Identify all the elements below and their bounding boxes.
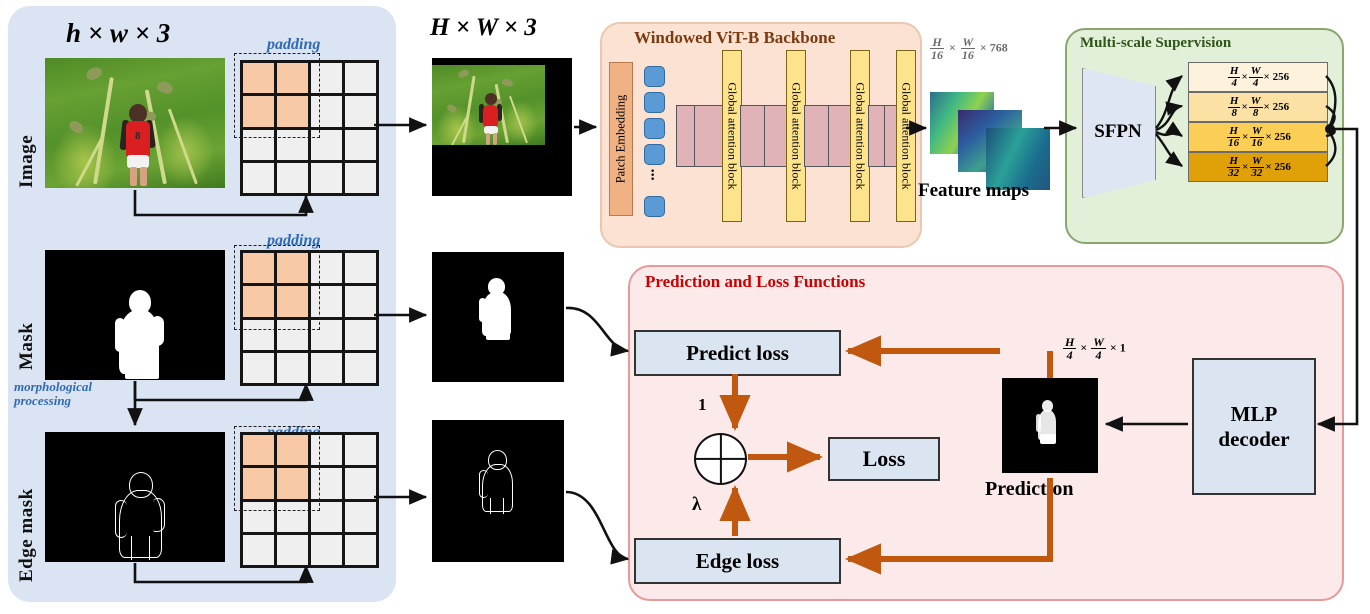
ms3-w-den: 32 (1249, 168, 1264, 179)
prediction-caption: Prediction (985, 478, 1074, 501)
padding-label-image: padding (267, 36, 320, 54)
mlp-decoder-line1: MLP (1231, 402, 1278, 426)
transformer-block (740, 105, 766, 167)
input-image-thumbnail: 8 (45, 58, 225, 188)
global-attention-block: Global attention block (722, 50, 742, 222)
edge-loss-weight-label: λ (692, 494, 701, 516)
global-attention-block-label: Global attention block (789, 82, 804, 189)
ms1-h-num: H (1228, 96, 1241, 108)
fm-h-den: 16 (929, 49, 945, 61)
morph-line1: morphological (14, 380, 92, 394)
padding-window-mask (234, 245, 320, 330)
pred-channels: 1 (1120, 340, 1126, 354)
input-dim-caption: h × w × 3 (66, 18, 170, 49)
mask-image-thumbnail (45, 250, 225, 380)
feature-maps-caption: Feature maps (918, 180, 1029, 202)
token-square (644, 118, 665, 139)
global-attention-block-label: Global attention block (853, 82, 868, 189)
global-attention-block: Global attention block (896, 50, 916, 222)
token-square (644, 66, 665, 87)
multiscale-level-bar: H32 ×W32 × 256 (1188, 152, 1328, 182)
edge-mask-image-thumbnail (45, 432, 225, 562)
pred-h-den: 4 (1065, 349, 1075, 361)
global-attention-block-label: Global attention block (725, 82, 740, 189)
transformer-block (804, 105, 830, 167)
prediction-dim-caption: H4 × W4 × 1 (1062, 336, 1126, 361)
ms2-w-den: 16 (1249, 138, 1264, 149)
ms3-h-den: 32 (1226, 168, 1241, 179)
mlp-decoder-line2: decoder (1218, 427, 1289, 451)
predict-loss-box: Predict loss (634, 330, 841, 376)
patch-embedding-label: Patch Embedding (614, 95, 629, 184)
patch-embedding-block: Patch Embedding (609, 62, 633, 216)
sfpn-label: SFPN (1082, 68, 1154, 196)
feature-map-dim-caption: H16 × W16 × 768 (928, 36, 1008, 61)
token-square (644, 144, 665, 165)
row-label-image: Image (16, 78, 38, 188)
prediction-thumbnail (1002, 378, 1098, 473)
ms3-channels: 256 (1274, 161, 1291, 173)
transformer-block (764, 105, 788, 167)
edge-loss-box: Edge loss (634, 538, 841, 584)
morph-line2: processing (14, 394, 92, 408)
ms2-h-den: 16 (1226, 138, 1241, 149)
global-attention-block-label: Global attention block (899, 82, 914, 189)
ms2-w-num: W (1250, 126, 1264, 138)
token-ellipsis-icon: ··· (650, 170, 655, 182)
row-label-edge-mask: Edge mask (16, 432, 38, 582)
ms1-w-num: W (1249, 96, 1263, 108)
padded-mask-thumbnail (432, 252, 564, 382)
ms0-h-num: H (1228, 66, 1241, 78)
padding-window-edge (234, 426, 320, 511)
ms0-channels: 256 (1273, 71, 1290, 83)
pred-w-den: 4 (1094, 349, 1104, 361)
sum-operator-icon (694, 433, 747, 485)
total-loss-box: Loss (828, 437, 940, 481)
multiscale-level-bar: H4 ×W4 × 256 (1188, 62, 1328, 92)
transformer-block (828, 105, 852, 167)
row-label-mask: Mask (16, 270, 38, 370)
padded-dim-caption: H × W × 3 (430, 14, 537, 42)
ms0-w-den: 4 (1251, 78, 1261, 89)
ms3-w-num: W (1250, 156, 1264, 168)
ms1-h-den: 8 (1229, 108, 1239, 119)
ms1-channels: 256 (1273, 101, 1290, 113)
token-square (644, 92, 665, 113)
transformer-block (676, 105, 696, 167)
fm-w-den: 16 (960, 49, 976, 61)
mlp-decoder-box: MLP decoder (1192, 358, 1316, 495)
ms0-h-den: 4 (1229, 78, 1239, 89)
backbone-panel-title: Windowed ViT-B Backbone (634, 28, 835, 48)
loss-panel-title: Prediction and Loss Functions (645, 272, 865, 292)
padded-edge-thumbnail (432, 420, 564, 562)
ms1-w-den: 8 (1251, 108, 1261, 119)
fm-channels: 768 (990, 40, 1008, 54)
multiscale-level-bar: H8 ×W8 × 256 (1188, 92, 1328, 122)
padded-image-thumbnail (432, 58, 572, 196)
ms2-h-num: H (1227, 126, 1240, 138)
predict-loss-weight-label: 1 (698, 395, 707, 415)
ms0-w-num: W (1249, 66, 1263, 78)
token-square (644, 196, 665, 217)
multiscale-panel-title: Multi-scale Supervision (1080, 35, 1231, 52)
global-attention-block: Global attention block (786, 50, 806, 222)
ms2-channels: 256 (1274, 131, 1291, 143)
morphological-processing-label: morphological processing (14, 380, 92, 407)
multiscale-level-bar: H16 ×W16 × 256 (1188, 122, 1328, 152)
transformer-block (694, 105, 724, 167)
padding-window-image (234, 53, 320, 138)
ms3-h-num: H (1227, 156, 1240, 168)
global-attention-block: Global attention block (850, 50, 870, 222)
